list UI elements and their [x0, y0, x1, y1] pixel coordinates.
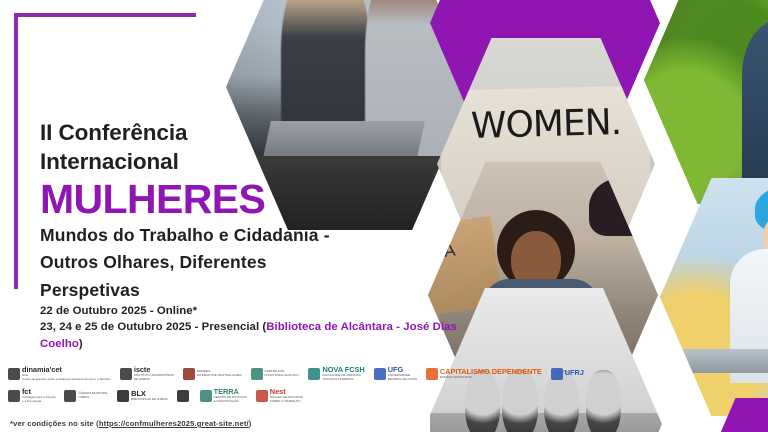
- fct-logo: fctFundação para a Ciênciae a Tecnologia: [8, 388, 55, 403]
- logo-wordmark: CÂMARA MUNICIPALLISBOA: [78, 392, 108, 399]
- logo-wordmark: CAPITALISMO DEPENDENTEESTADO CONJUNTOS: [440, 368, 542, 380]
- event-dates: 22 de Outubro 2025 - Online* 23, 24 e 25…: [40, 303, 480, 352]
- subtitle-line-3: Perspetivas: [40, 279, 470, 302]
- centre-functional-ecology-logo: CENTRE FORFUNCTIONAL ECOLOGY: [251, 368, 300, 380]
- date-online: 22 de Outubro 2025 - Online*: [40, 303, 480, 319]
- sponsor-logo-row-2: fctFundação para a Ciênciae a Tecnologia…: [8, 388, 312, 403]
- logo-mark-icon: [183, 368, 195, 380]
- logo-wordmark: fctFundação para a Ciênciae a Tecnologia: [22, 388, 55, 403]
- logo-mark-icon: [177, 390, 189, 402]
- bracket-top-rule: [14, 13, 196, 17]
- terra-logo: TERRACENTRO DE ESTUDOSE INVESTIGAÇÃO: [200, 388, 247, 403]
- footnote-prefix: *ver condições no site (: [10, 419, 99, 428]
- conditions-footnote: *ver condições no site (https://confmulh…: [10, 419, 251, 428]
- footnote-suffix: ): [249, 419, 252, 428]
- sponsor-logo-bar: dinamia'cetiscteCentro de Estudos sobre …: [8, 366, 458, 414]
- decorative-conveyor: [681, 349, 768, 373]
- madeira-interactive-logo: MADEIRAINTERACTIVE TECHNOLOGIES: [183, 368, 242, 380]
- capitalismo-dependente-logo: CAPITALISMO DEPENDENTEESTADO CONJUNTOS: [426, 368, 542, 380]
- cgtp-logo: [177, 390, 191, 402]
- logo-mark-icon: [251, 368, 263, 380]
- conference-poster: WOMEN. EA VOTEVOTEVOTEVOTETEVOTEVOTE: [0, 0, 768, 432]
- logo-mark-icon: [551, 368, 563, 380]
- ufrj-logo: UFRJ: [551, 368, 584, 380]
- logo-mark-icon: [200, 390, 212, 402]
- logo-wordmark: iscteINSTITUTO UNIVERSITÁRIODE LISBOA: [134, 366, 174, 381]
- logo-mark-icon: [117, 390, 129, 402]
- decorative-torso: [742, 20, 768, 204]
- conference-line-2: Internacional: [40, 147, 470, 176]
- iscte-logo: iscteINSTITUTO UNIVERSITÁRIODE LISBOA: [120, 366, 174, 381]
- logo-wordmark: TERRACENTRO DE ESTUDOSE INVESTIGAÇÃO: [214, 388, 247, 403]
- logo-wordmark: NestNÚCLEO DE ESTUDOSSOBRE O TRABALHO: [270, 388, 303, 403]
- ufg-logo: UFGUNIVERSIDADEFEDERAL DE GOIÁS: [374, 366, 417, 381]
- blx-bibliotecas-lisboa-logo: BLXBIBLIOTECAS DE LISBOA: [117, 390, 167, 402]
- conference-site-link[interactable]: https://confmulheres2025.great-site.net/: [99, 419, 249, 428]
- logo-mark-icon: [308, 368, 320, 380]
- date-presencial-prefix: 23, 24 e 25 de Outubro 2025 - Presencial…: [40, 321, 266, 333]
- headline-block: II Conferência Internacional MULHERES Mu…: [40, 118, 470, 302]
- logo-mark-icon: [256, 390, 268, 402]
- date-presencial: 23, 24 e 25 de Outubro 2025 - Presencial…: [40, 319, 480, 352]
- logo-wordmark: NOVA FCSHFACULDADE DE CIÊNCIASSOCIAIS E …: [322, 366, 364, 381]
- logo-wordmark: UFGUNIVERSIDADEFEDERAL DE GOIÁS: [388, 366, 417, 381]
- logo-wordmark: CENTRE FORFUNCTIONAL ECOLOGY: [265, 370, 300, 377]
- logo-mark-icon: [120, 368, 132, 380]
- logo-wordmark: MADEIRAINTERACTIVE TECHNOLOGIES: [197, 370, 242, 377]
- photo-hex-lab-worker: [660, 178, 768, 416]
- subtitle-line-1: Mundos do Trabalho e Cidadania -: [40, 224, 470, 247]
- nova-fcsh-logo: NOVA FCSHFACULDADE DE CIÊNCIASSOCIAIS E …: [308, 366, 364, 381]
- logo-mark-icon: [8, 368, 20, 380]
- sponsor-logo-row-1: dinamia'cetiscteCentro de Estudos sobre …: [8, 366, 593, 381]
- logo-mark-icon: [64, 390, 76, 402]
- logo-wordmark: BLXBIBLIOTECAS DE LISBOA: [131, 390, 167, 402]
- page-title: MULHERES: [40, 178, 470, 221]
- photo-hex-farmer-peppers: [644, 0, 768, 204]
- logo-wordmark: UFRJ: [565, 369, 584, 377]
- date-presencial-suffix: ): [79, 338, 83, 350]
- logo-mark-icon: [426, 368, 438, 380]
- logo-mark-icon: [8, 390, 20, 402]
- dinamia-cet-iscte-logo: dinamia'cetiscteCentro de Estudos sobre …: [8, 366, 111, 381]
- logo-mark-icon: [374, 368, 386, 380]
- logo-wordmark: dinamia'cetiscteCentro de Estudos sobre …: [22, 366, 111, 381]
- conference-line-1: II Conferência: [40, 118, 470, 147]
- subtitle-line-2: Outros Olhares, Diferentes: [40, 251, 470, 274]
- cm-lisboa-logo: CÂMARA MUNICIPALLISBOA: [64, 390, 108, 402]
- bracket-left-rule: [14, 13, 18, 289]
- nest-logo: NestNÚCLEO DE ESTUDOSSOBRE O TRABALHO: [256, 388, 303, 403]
